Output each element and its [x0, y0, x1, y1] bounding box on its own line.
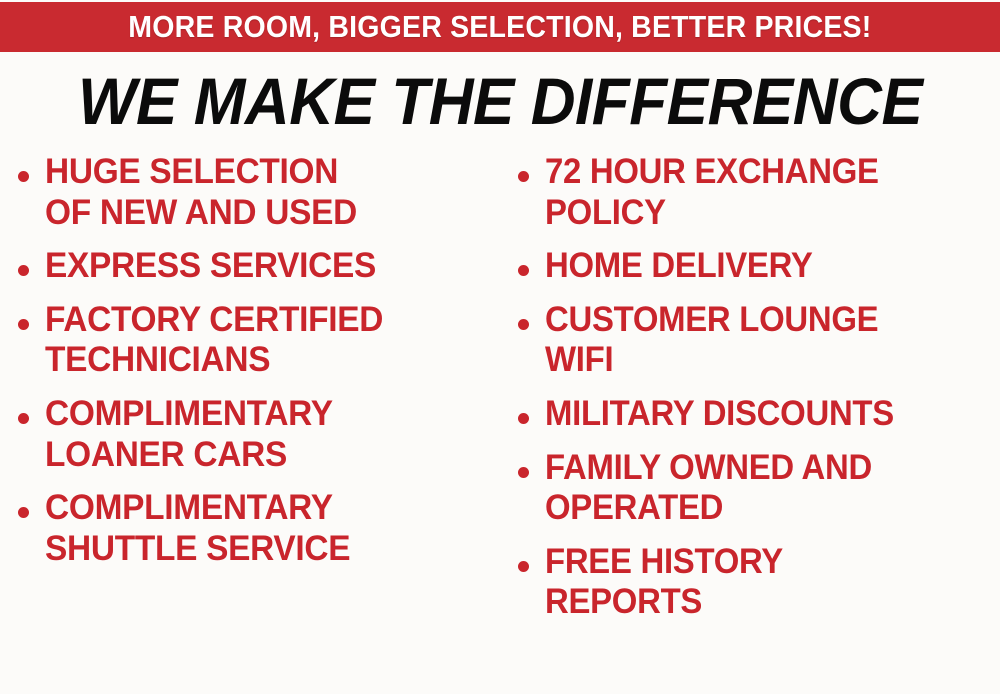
- list-item-label: FAMILY OWNED AND OPERATED: [545, 448, 973, 529]
- features-column-left: HUGE SELECTION OF NEW AND USED EXPRESS S…: [18, 152, 500, 694]
- list-item: COMPLIMENTARY SHUTTLE SERVICE: [18, 488, 500, 569]
- bullet-dot-icon: [18, 265, 29, 276]
- list-item: 72 HOUR EXCHANGE POLICY: [518, 152, 1000, 233]
- features-columns: HUGE SELECTION OF NEW AND USED EXPRESS S…: [0, 152, 1000, 694]
- bullet-dot-icon: [518, 413, 529, 424]
- features-column-right: 72 HOUR EXCHANGE POLICY HOME DELIVERY CU…: [518, 152, 1000, 694]
- list-item-label: COMPLIMENTARY SHUTTLE SERVICE: [45, 488, 480, 569]
- list-item: FACTORY CERTIFIED TECHNICIANS: [18, 300, 500, 381]
- list-item: HOME DELIVERY: [518, 246, 1000, 287]
- bullet-dot-icon: [518, 171, 529, 182]
- bullet-dot-icon: [18, 507, 29, 518]
- list-item-label: HUGE SELECTION OF NEW AND USED: [45, 152, 480, 233]
- bullet-dot-icon: [18, 413, 29, 424]
- list-item: COMPLIMENTARY LOANER CARS: [18, 394, 500, 475]
- bullet-dot-icon: [518, 319, 529, 330]
- list-item: HUGE SELECTION OF NEW AND USED: [18, 152, 500, 233]
- list-item-label: FACTORY CERTIFIED TECHNICIANS: [45, 300, 480, 381]
- bullet-dot-icon: [518, 467, 529, 478]
- list-item: FREE HISTORY REPORTS: [518, 542, 1000, 623]
- list-item: CUSTOMER LOUNGE WIFI: [518, 300, 1000, 381]
- list-item-label: EXPRESS SERVICES: [45, 246, 480, 287]
- list-item-label: FREE HISTORY REPORTS: [545, 542, 973, 623]
- bullet-dot-icon: [518, 561, 529, 572]
- bullet-dot-icon: [518, 265, 529, 276]
- list-item-label: COMPLIMENTARY LOANER CARS: [45, 394, 480, 475]
- list-item-label: HOME DELIVERY: [545, 246, 973, 287]
- promo-banner: MORE ROOM, BIGGER SELECTION, BETTER PRIC…: [0, 2, 1000, 52]
- headline-container: WE MAKE THE DIFFERENCE: [0, 62, 1000, 140]
- list-item: MILITARY DISCOUNTS: [518, 394, 1000, 435]
- list-item: EXPRESS SERVICES: [18, 246, 500, 287]
- bullet-dot-icon: [18, 319, 29, 330]
- page-title: WE MAKE THE DIFFERENCE: [78, 68, 922, 134]
- list-item: FAMILY OWNED AND OPERATED: [518, 448, 1000, 529]
- list-item-label: CUSTOMER LOUNGE WIFI: [545, 300, 973, 381]
- bullet-dot-icon: [18, 171, 29, 182]
- list-item-label: MILITARY DISCOUNTS: [545, 394, 973, 435]
- promo-banner-text: MORE ROOM, BIGGER SELECTION, BETTER PRIC…: [128, 9, 871, 45]
- list-item-label: 72 HOUR EXCHANGE POLICY: [545, 152, 973, 233]
